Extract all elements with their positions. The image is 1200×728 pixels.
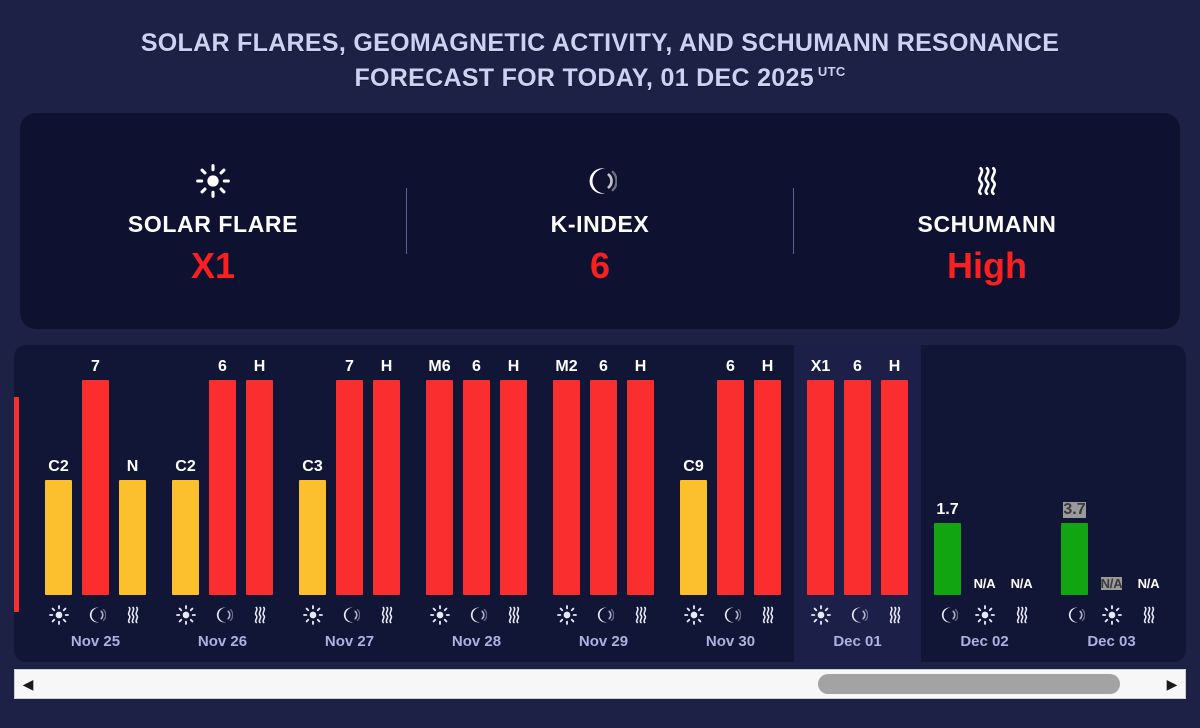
sun-icon — [1098, 605, 1125, 625]
bar-value-label: 6 — [726, 359, 735, 375]
metric-icons-row — [553, 604, 654, 626]
scrollbar-track[interactable] — [41, 670, 1159, 698]
day-group[interactable]: X16HDec 01 — [794, 345, 921, 662]
bars-row: C96H — [680, 359, 781, 595]
waves-icon — [373, 605, 400, 625]
bar-column-solar-flare[interactable]: N/A — [971, 359, 998, 595]
bar-rect-k-index[interactable] — [209, 380, 236, 595]
bar-column-schumann[interactable]: H — [246, 359, 273, 595]
summary-value: High — [947, 248, 1027, 284]
bar-rect-schumann[interactable] — [881, 380, 908, 595]
bar-rect-schumann[interactable] — [246, 380, 273, 595]
bar-rect-schumann[interactable] — [14, 397, 19, 612]
bar-rect-schumann[interactable] — [373, 380, 400, 595]
bar-rect-k-index[interactable] — [1061, 523, 1088, 595]
bar-value-label: X1 — [811, 359, 831, 375]
bar-value-label: 3.7 — [1063, 502, 1085, 518]
day-group-clipped[interactable]: H — [14, 345, 32, 662]
bar-column-schumann[interactable]: H — [14, 376, 19, 612]
day-group[interactable]: C96HNov 30 — [667, 345, 794, 662]
bar-rect-k-index[interactable] — [463, 380, 490, 595]
bar-value-label: 6 — [853, 359, 862, 375]
waves-icon — [1008, 605, 1035, 625]
bar-rect-schumann[interactable] — [500, 380, 527, 595]
bars-row: C37H — [299, 359, 400, 595]
bar-value-label: H — [254, 359, 266, 375]
metric-icons-row — [934, 604, 1035, 626]
bar-column-solar-flare[interactable]: C9 — [680, 359, 707, 595]
bar-column-schumann[interactable]: N/A — [1008, 359, 1035, 595]
summary-value: 6 — [590, 248, 610, 284]
bar-value-label: M6 — [428, 359, 450, 375]
scrollbar-thumb[interactable] — [818, 674, 1120, 694]
moon-icon — [583, 159, 617, 203]
summary-label: K-INDEX — [551, 211, 650, 238]
day-date-label: Nov 26 — [172, 633, 273, 650]
bar-rect-schumann[interactable] — [627, 380, 654, 595]
title-line-2-text: FORECAST FOR TODAY, 01 DEC 2025 — [354, 64, 813, 92]
moon-icon — [717, 605, 744, 625]
bar-column-solar-flare[interactable]: C3 — [299, 359, 326, 595]
chart-scroll-content[interactable]: HC27NNov 25C26HNov 26C37HNov 27M66HNov 2… — [14, 345, 1186, 662]
bar-value-label: M2 — [555, 359, 577, 375]
sun-icon — [45, 605, 72, 625]
bars-row: C27N — [45, 359, 146, 595]
bar-column-schumann[interactable]: H — [373, 359, 400, 595]
day-date-label: Nov 29 — [553, 633, 654, 650]
bar-column-schumann[interactable]: N/A — [1135, 359, 1162, 595]
day-group[interactable]: C27NNov 25 — [32, 345, 159, 662]
summary-label: SCHUMANN — [918, 211, 1057, 238]
bar-rect-solar-flare[interactable] — [807, 380, 834, 595]
bar-column-k-index[interactable]: 6 — [463, 359, 490, 595]
sun-icon — [553, 605, 580, 625]
bar-value-label: H — [635, 359, 647, 375]
bar-column-k-index[interactable]: 6 — [209, 359, 236, 595]
bar-value-label: N/A — [1138, 577, 1160, 590]
summary-label: SOLAR FLARE — [128, 211, 298, 238]
metric-icons-row — [680, 604, 781, 626]
day-date-label: Nov 27 — [299, 633, 400, 650]
bars-row: 3.7N/AN/A — [1061, 359, 1162, 595]
day-date-label: Dec 01 — [807, 633, 908, 650]
bar-value-label: C2 — [175, 459, 195, 475]
bar-rect-schumann[interactable] — [754, 380, 781, 595]
day-group[interactable]: C26HNov 26 — [159, 345, 286, 662]
bar-rect-solar-flare[interactable] — [45, 480, 72, 595]
bar-column-solar-flare[interactable]: X1 — [807, 359, 834, 595]
moon-icon — [844, 605, 871, 625]
page-title: SOLAR FLARES, GEOMAGNETIC ACTIVITY, AND … — [0, 0, 1200, 107]
bar-rect-k-index[interactable] — [82, 380, 109, 595]
day-date-label: Nov 30 — [680, 633, 781, 650]
bar-value-label: N/A — [974, 577, 996, 590]
bar-column-k-index[interactable]: 3.7 — [1061, 359, 1088, 595]
summary-cell-solar-flare: SOLAR FLAREX1 — [20, 113, 406, 329]
day-date-label: Dec 02 — [934, 633, 1035, 650]
bar-rect-k-index[interactable] — [844, 380, 871, 595]
waves-icon — [970, 159, 1004, 203]
bar-column-schumann[interactable]: H — [754, 359, 781, 595]
bars-row: H — [14, 376, 19, 612]
metric-icons-row — [426, 604, 527, 626]
horizontal-scrollbar[interactable]: ◀ ▶ — [14, 669, 1186, 699]
bar-column-k-index[interactable]: 6 — [590, 359, 617, 595]
moon-icon — [590, 605, 617, 625]
bars-row: C26H — [172, 359, 273, 595]
bar-value-label: N/A — [1101, 577, 1123, 590]
sun-icon — [680, 605, 707, 625]
bars-row: M26H — [553, 359, 654, 595]
bar-rect-solar-flare[interactable] — [172, 480, 199, 595]
sun-icon — [971, 605, 998, 625]
waves-icon — [119, 605, 146, 625]
bar-value-label: H — [381, 359, 393, 375]
bar-value-label: N — [127, 459, 139, 475]
forecast-chart-card: HC27NNov 25C26HNov 26C37HNov 27M66HNov 2… — [14, 345, 1186, 662]
bar-rect-k-index[interactable] — [717, 380, 744, 595]
bars-row: X16H — [807, 359, 908, 595]
day-group[interactable]: 1.7N/AN/ADec 02 — [921, 345, 1048, 662]
day-date-label: Dec 03 — [1061, 633, 1162, 650]
bar-rect-k-index[interactable] — [934, 523, 961, 595]
bar-rect-k-index[interactable] — [336, 380, 363, 595]
waves-icon — [14, 622, 19, 642]
day-group[interactable]: M66HNov 28 — [413, 345, 540, 662]
bar-column-solar-flare[interactable]: M6 — [426, 359, 453, 595]
sun-icon — [172, 605, 199, 625]
bar-value-label: H — [762, 359, 774, 375]
bar-value-label: C2 — [48, 459, 68, 475]
bar-value-label: C9 — [683, 459, 703, 475]
sun-icon — [196, 159, 230, 203]
bar-column-schumann[interactable]: H — [500, 359, 527, 595]
bar-value-label: 6 — [218, 359, 227, 375]
summary-cell-schumann: SCHUMANNHigh — [794, 113, 1180, 329]
bar-rect-k-index[interactable] — [590, 380, 617, 595]
waves-icon — [627, 605, 654, 625]
moon-icon — [463, 605, 490, 625]
moon-icon — [934, 605, 961, 625]
bar-value-label: 6 — [599, 359, 608, 375]
waves-icon — [881, 605, 908, 625]
day-group[interactable]: 3.7N/AN/ADec 03 — [1048, 345, 1175, 662]
bar-rect-solar-flare[interactable] — [680, 480, 707, 595]
moon-icon — [209, 605, 236, 625]
bar-value-label: C3 — [302, 459, 322, 475]
bar-column-k-index[interactable]: 1.7 — [934, 359, 961, 595]
metric-icons-row — [14, 621, 19, 643]
metric-icons-row — [172, 604, 273, 626]
bar-rect-solar-flare[interactable] — [299, 480, 326, 595]
metric-icons-row — [299, 604, 400, 626]
waves-icon — [1135, 605, 1162, 625]
sun-icon — [299, 605, 326, 625]
bar-column-solar-flare[interactable]: C2 — [172, 359, 199, 595]
bar-column-schumann[interactable]: N — [119, 359, 146, 595]
bar-column-solar-flare[interactable]: C2 — [45, 359, 72, 595]
title-utc-superscript: UTC — [818, 64, 846, 79]
title-line-2: FORECAST FOR TODAY, 01 DEC 2025UTC — [40, 61, 1160, 96]
waves-icon — [754, 605, 781, 625]
day-group[interactable]: M26HNov 29 — [540, 345, 667, 662]
bar-column-k-index[interactable]: 6 — [844, 359, 871, 595]
metric-icons-row — [45, 604, 146, 626]
bar-value-label: H — [508, 359, 520, 375]
bar-value-label: 7 — [91, 359, 100, 375]
bars-row: M66H — [426, 359, 527, 595]
bar-rect-schumann[interactable] — [119, 480, 146, 595]
bar-column-k-index[interactable]: 7 — [336, 359, 363, 595]
bar-column-solar-flare[interactable]: N/A — [1098, 359, 1125, 595]
day-date-label: Nov 28 — [426, 633, 527, 650]
summary-value: X1 — [191, 248, 235, 284]
metric-icons-row — [807, 604, 908, 626]
scroll-right-arrow-icon[interactable]: ▶ — [1159, 670, 1185, 698]
bar-column-schumann[interactable]: H — [881, 359, 908, 595]
moon-icon — [82, 605, 109, 625]
metric-icons-row — [1061, 604, 1162, 626]
waves-icon — [246, 605, 273, 625]
day-group[interactable]: C37HNov 27 — [286, 345, 413, 662]
summary-card: SOLAR FLAREX1K-INDEX6SCHUMANNHigh — [20, 113, 1180, 329]
moon-icon — [1061, 605, 1088, 625]
title-line-1: SOLAR FLARES, GEOMAGNETIC ACTIVITY, AND … — [40, 26, 1160, 61]
bar-value-label: 6 — [472, 359, 481, 375]
scroll-left-arrow-icon[interactable]: ◀ — [15, 670, 41, 698]
bar-value-label: 7 — [345, 359, 354, 375]
sun-icon — [807, 605, 834, 625]
bar-value-label: N/A — [1011, 577, 1033, 590]
bar-column-solar-flare[interactable]: M2 — [553, 359, 580, 595]
bar-column-k-index[interactable]: 6 — [717, 359, 744, 595]
bar-value-label: H — [889, 359, 901, 375]
summary-cell-k-index: K-INDEX6 — [407, 113, 793, 329]
moon-icon — [336, 605, 363, 625]
bar-rect-solar-flare[interactable] — [553, 380, 580, 595]
day-date-label: Nov 25 — [45, 633, 146, 650]
bar-value-label: 1.7 — [936, 502, 958, 518]
sun-icon — [426, 605, 453, 625]
waves-icon — [500, 605, 527, 625]
bars-row: 1.7N/AN/A — [934, 359, 1035, 595]
bar-column-schumann[interactable]: H — [627, 359, 654, 595]
bar-column-k-index[interactable]: 7 — [82, 359, 109, 595]
bar-rect-solar-flare[interactable] — [426, 380, 453, 595]
